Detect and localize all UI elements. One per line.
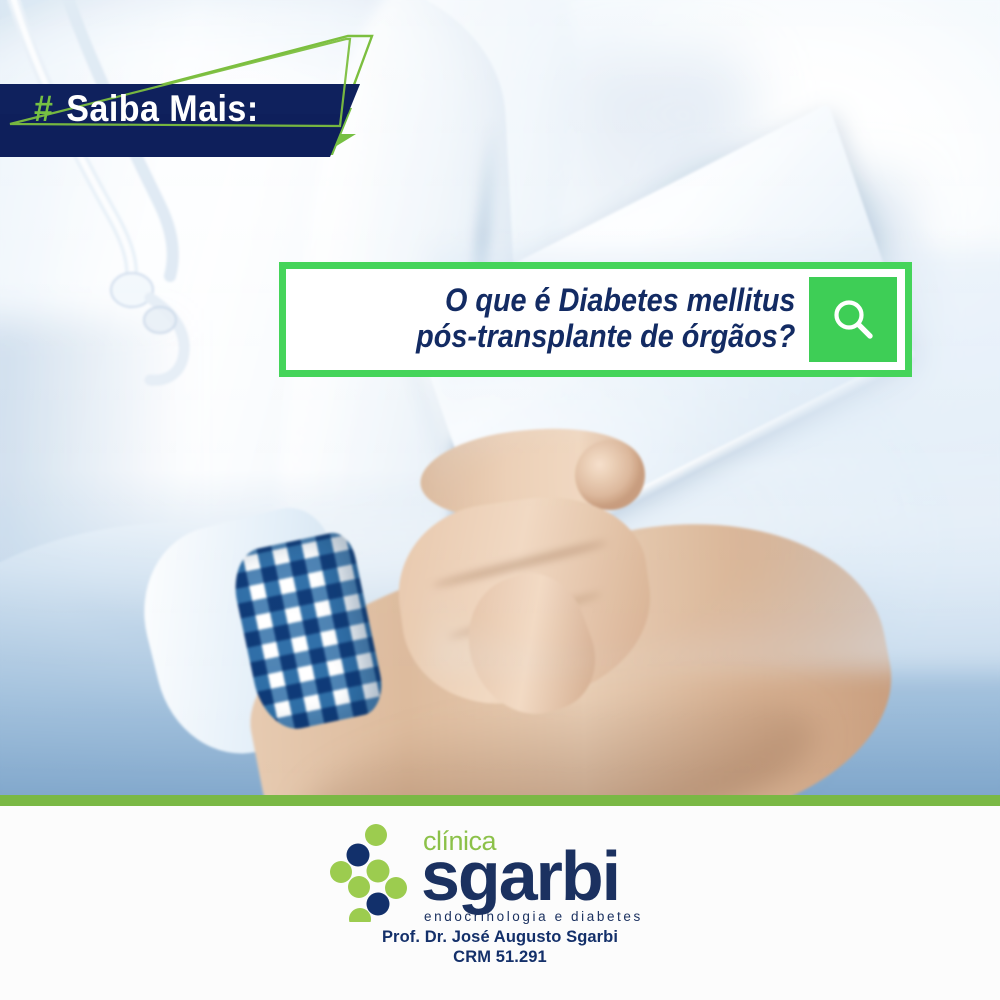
search-query-line-2: pós-transplante de órgãos? [416,319,795,355]
search-query[interactable]: O que é Diabetes mellitus pós-transplant… [286,269,809,370]
logo-tagline: endocrinologia e diabetes [424,909,643,924]
hashtag-symbol: # [34,88,53,129]
search-button[interactable] [809,277,897,362]
logo-wordmark: clínica sgarbi endocrinologia e diabetes [421,824,671,922]
fingertip [575,440,645,510]
search-icon [828,295,878,345]
social-media-post: #Saiba Mais: O que é Diabetes mellitus p… [0,0,1000,1000]
banner-label: Saiba Mais: [66,88,258,129]
logo: clínica sgarbi endocrinologia e diabetes [0,824,1000,922]
doctor-crm: CRM 51.291 [0,948,1000,967]
logo-name: sgarbi [421,841,619,911]
footer: clínica sgarbi endocrinologia e diabetes… [0,806,1000,1000]
header-banner: #Saiba Mais: [0,24,420,174]
banner-title: #Saiba Mais: [34,88,259,130]
search-query-line-1: O que é Diabetes mellitus [444,283,795,319]
search-bar[interactable]: O que é Diabetes mellitus pós-transplant… [279,262,912,377]
logo-dots-icon [329,824,415,922]
green-divider [0,795,1000,806]
doctor-name: Prof. Dr. José Augusto Sgarbi [0,928,1000,947]
